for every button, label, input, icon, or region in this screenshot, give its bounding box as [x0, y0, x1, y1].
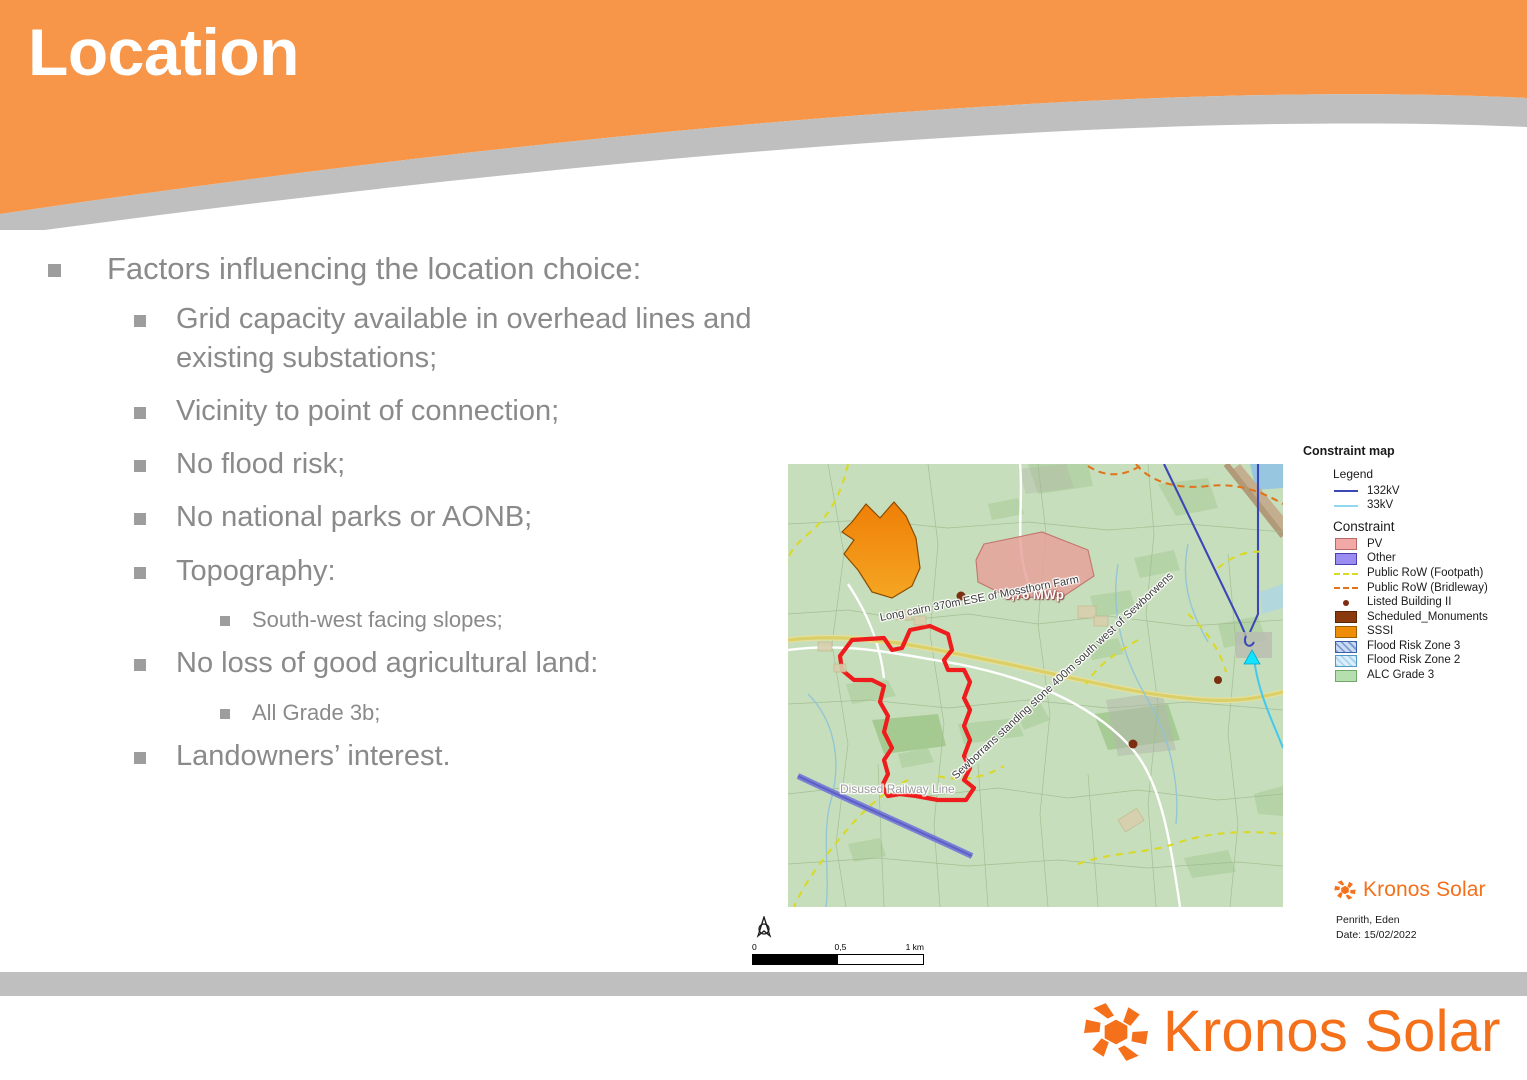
listed-building-marker	[957, 592, 966, 601]
legend-row-label: Public RoW (Footpath)	[1367, 568, 1483, 580]
list-item-label: Vicinity to point of connection;	[176, 392, 559, 431]
legend-row-flood-zone-3: Flood Risk Zone 3	[1333, 639, 1493, 654]
list-item-label: All Grade 3b;	[252, 698, 380, 728]
scalebar-segment-empty	[838, 955, 923, 964]
legend-row-label: Listed Building II	[1367, 597, 1451, 609]
bullet-marker-icon	[134, 315, 146, 327]
listed-building-marker	[1129, 740, 1138, 749]
list-item: Landowners’ interest.	[134, 737, 808, 776]
legend-section-constraint: Constraint	[1333, 519, 1493, 534]
listed-building-marker	[1214, 676, 1222, 684]
list-item: Vicinity to point of connection;	[134, 392, 808, 431]
legend-row-scheduled-monuments: Scheduled_Monuments	[1333, 610, 1493, 625]
page-title: Location	[28, 16, 299, 89]
list-item: Topography:	[134, 552, 808, 591]
map-brand-logo: Kronos Solar	[1334, 878, 1486, 902]
legend-row-label: 33kV	[1367, 500, 1393, 512]
kronos-sun-icon	[1334, 879, 1356, 901]
legend-row-flood-zone-2: Flood Risk Zone 2	[1333, 654, 1493, 669]
list-item-label: South-west facing slopes;	[252, 605, 503, 635]
list-item-label: Landowners’ interest.	[176, 737, 451, 776]
scheduled-monuments-swatch-icon	[1333, 611, 1359, 624]
legend-row-listed-building: Listed Building II	[1333, 596, 1493, 611]
legend-row-33kv: 33kV	[1333, 499, 1493, 514]
map-credit-location: Penrith, Eden	[1336, 913, 1417, 928]
legend-row-other: Other	[1333, 552, 1493, 567]
bullet-marker-icon	[134, 513, 146, 525]
legend-row-label: Scheduled_Monuments	[1367, 612, 1488, 624]
legend-row-label: Public RoW (Bridleway)	[1367, 583, 1488, 595]
legend-row-alc-grade-3: ALC Grade 3	[1333, 669, 1493, 684]
flood-zone-2-swatch-icon	[1333, 655, 1359, 668]
list-item: Grid capacity available in overhead line…	[134, 300, 808, 378]
bullet-marker-icon	[134, 752, 146, 764]
legend-row-label: Flood Risk Zone 3	[1367, 641, 1460, 653]
legend-row-sssi: SSSI	[1333, 625, 1493, 640]
list-item: All Grade 3b;	[220, 698, 808, 728]
bullet-marker-icon	[134, 567, 146, 579]
list-item-label: Grid capacity available in overhead line…	[176, 300, 808, 378]
bullet-marker-icon	[134, 659, 146, 671]
list-item-label: No national parks or AONB;	[176, 498, 532, 537]
legend-row-label: 132kV	[1367, 486, 1400, 498]
list-item: No loss of good agricultural land:	[134, 644, 808, 683]
map-credit-date: Date: 15/02/2022	[1336, 928, 1417, 943]
list-item-label: Factors influencing the location choice:	[107, 248, 641, 290]
scalebar-segment-filled	[753, 955, 838, 964]
legend-row-bridleway: Public RoW (Bridleway)	[1333, 581, 1493, 596]
legend-title: Constraint map	[1303, 444, 1493, 458]
north-arrow-icon	[753, 916, 775, 943]
scale-bar: 0 0,5 1 km	[752, 942, 924, 965]
bullet-marker-icon	[134, 460, 146, 472]
legend-row-label: Other	[1367, 553, 1396, 565]
list-item: No national parks or AONB;	[134, 498, 808, 537]
map-brand-label: Kronos Solar	[1363, 878, 1486, 902]
legend-row-footpath: Public RoW (Footpath)	[1333, 566, 1493, 581]
list-item-label: No loss of good agricultural land:	[176, 644, 598, 683]
scalebar-end: 1 km	[906, 942, 924, 952]
bridleway-dash-icon	[1333, 582, 1359, 595]
legend-row-pv: PV	[1333, 537, 1493, 552]
scalebar-start: 0	[752, 942, 757, 952]
kronos-sun-icon	[1083, 999, 1149, 1065]
alc-grade-3-swatch-icon	[1333, 669, 1359, 682]
legend-row-label: SSSI	[1367, 626, 1393, 638]
bullet-marker-icon	[220, 709, 230, 719]
list-item: South-west facing slopes;	[220, 605, 808, 635]
list-item-label: No flood risk;	[176, 445, 345, 484]
sssi-swatch-icon	[1333, 626, 1359, 639]
other-swatch-icon	[1333, 553, 1359, 566]
legend-row-label: Flood Risk Zone 2	[1367, 655, 1460, 667]
map-credit-block: Penrith, Eden Date: 15/02/2022	[1336, 913, 1417, 943]
listed-building-dot-icon	[1333, 596, 1359, 609]
list-item: Factors influencing the location choice:	[48, 248, 808, 290]
legend-row-132kv: 132kV	[1333, 484, 1493, 499]
list-item: No flood risk;	[134, 445, 808, 484]
footpath-dash-icon	[1333, 567, 1359, 580]
footer-brand-label: Kronos Solar	[1163, 1003, 1501, 1061]
bullet-marker-icon	[220, 616, 230, 626]
line-33kv-icon	[1333, 499, 1359, 512]
legend-row-label: ALC Grade 3	[1367, 670, 1434, 682]
flood-zone-3-swatch-icon	[1333, 640, 1359, 653]
bullet-marker-icon	[48, 264, 61, 277]
constraint-map-image	[788, 464, 1283, 907]
scalebar-mid: 0,5	[835, 942, 847, 952]
map-legend: Constraint map Legend 132kV 33kV Constra…	[1303, 444, 1493, 683]
bullet-marker-icon	[134, 407, 146, 419]
legend-row-label: PV	[1367, 539, 1382, 551]
footer-divider-bar	[0, 972, 1527, 996]
bullet-list: Factors influencing the location choice:…	[48, 248, 808, 790]
pv-swatch-icon	[1333, 538, 1359, 551]
legend-section-legend: Legend	[1333, 467, 1493, 481]
line-132kv-icon	[1333, 485, 1359, 498]
footer-brand-logo: Kronos Solar	[1083, 999, 1501, 1065]
list-item-label: Topography:	[176, 552, 336, 591]
